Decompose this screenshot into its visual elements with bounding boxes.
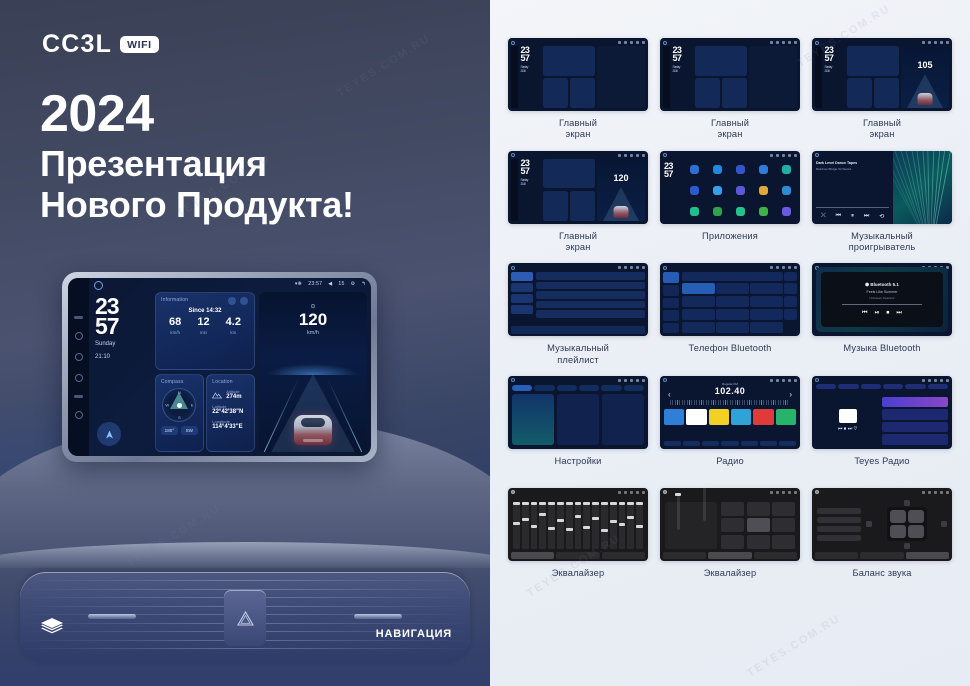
mini-playlist-tab[interactable] [511, 294, 533, 303]
mini-radio-tab[interactable] [760, 441, 777, 446]
mini-eq-preset[interactable] [772, 502, 795, 516]
balance-down-button[interactable] [904, 543, 910, 549]
mini-balance-preset[interactable] [817, 508, 861, 514]
mini-location-card[interactable] [874, 78, 899, 108]
mini-bluetooth-phone-screen[interactable] [660, 263, 800, 336]
mini-app-icon[interactable] [713, 165, 722, 174]
mini-eq-tab-sound[interactable] [556, 552, 599, 559]
mini-app-grid[interactable] [684, 160, 797, 221]
mini-eq-fader[interactable] [703, 488, 706, 521]
mini-home-icon[interactable] [663, 490, 667, 494]
mini-gear-icon[interactable] [788, 154, 791, 157]
mini-eq-tab-fade[interactable] [906, 552, 949, 559]
mini-dial-key[interactable] [682, 296, 715, 308]
mini-dial-key[interactable] [682, 283, 715, 295]
screen-thumbnail[interactable]: ⏮ ⏹ ⏭ ♡ [812, 376, 952, 449]
mini-eq-preset[interactable] [721, 518, 744, 532]
hazard-triangle-icon [237, 611, 254, 626]
mini-balance-preset[interactable] [817, 535, 861, 541]
mini-gear-icon[interactable] [940, 379, 943, 382]
mini-eq-band[interactable] [636, 502, 643, 549]
screen-thumbnail[interactable]: 2357 Sunday21:10 105 [812, 38, 952, 111]
mini-radio-preset[interactable] [686, 409, 706, 425]
mini-app-icon[interactable] [690, 186, 699, 195]
mini-back-icon[interactable] [794, 491, 797, 494]
mini-radio-preset[interactable] [709, 409, 729, 425]
stop-icon[interactable]: ⏹ [886, 310, 889, 317]
mini-radio-tab[interactable] [741, 441, 758, 446]
mini-eq-band[interactable] [601, 502, 608, 549]
mini-playlist-rows[interactable] [536, 272, 646, 326]
mini-side-rail[interactable] [815, 46, 822, 108]
mini-dialpad[interactable] [682, 272, 797, 333]
mini-compass-card[interactable] [695, 78, 720, 108]
play-icon[interactable]: ⏯ [875, 310, 880, 317]
mini-dial-key[interactable] [716, 309, 749, 321]
mini-home-icon[interactable] [511, 266, 515, 270]
mini-track-title: Dark Level Dance Tapes [816, 161, 889, 165]
mini-clock-widget: 2357 Sunday21:10 [521, 46, 541, 108]
mini-home-icon[interactable] [511, 490, 515, 494]
mini-settings-tab[interactable] [624, 385, 644, 391]
mini-apps-widget[interactable] [749, 46, 797, 108]
mini-eq-preset-grid[interactable] [721, 502, 795, 549]
mini-radio-preset[interactable] [753, 409, 773, 425]
mini-equalizer-presets-screen[interactable] [660, 488, 800, 561]
mini-app-icon[interactable] [782, 207, 791, 216]
repeat-icon[interactable]: ⟲ [879, 213, 884, 220]
mini-back-icon[interactable] [794, 154, 797, 157]
mini-dial-key[interactable] [682, 309, 715, 321]
mini-app-icon[interactable] [782, 165, 791, 174]
mini-radio-tab[interactable] [702, 441, 719, 446]
next-icon[interactable]: ⏭ [896, 310, 901, 317]
lower-widgets: Compass N S W E 180° [155, 374, 255, 452]
mini-playlist-sidebar[interactable] [511, 272, 533, 326]
shuffle-icon[interactable]: ⤬ [821, 213, 826, 220]
mini-volume-icon [782, 266, 785, 269]
information-actions[interactable] [228, 297, 248, 305]
mini-settings-panels[interactable] [512, 394, 644, 445]
mini-playlist-row[interactable] [536, 301, 646, 309]
mini-nav-speed: 120 [613, 173, 628, 183]
mini-settings-tab[interactable] [534, 385, 554, 391]
mini-phone-tab[interactable] [663, 298, 679, 309]
back-icon[interactable]: ↰ [361, 281, 366, 287]
mini-progress-bar[interactable] [816, 207, 889, 208]
mini-side-rail[interactable] [663, 46, 670, 108]
mini-teyes-tab[interactable] [838, 384, 858, 389]
mini-side-rail[interactable] [511, 159, 518, 221]
mini-eq-band[interactable] [575, 502, 582, 549]
mini-app-icon[interactable] [759, 186, 768, 195]
mini-radio-tab[interactable] [779, 441, 796, 446]
mini-key-call[interactable] [784, 309, 797, 321]
screen-thumbnail[interactable] [660, 488, 800, 561]
altitude-value: 274m [226, 394, 241, 400]
screen-thumbnail[interactable]: Regular FM ‹ 102.40 › [660, 376, 800, 449]
mini-app-icon[interactable] [736, 207, 745, 216]
side-button-volume-down[interactable] [75, 374, 83, 382]
mini-track-artist: Rainbow Bridge Orchestra [816, 167, 889, 171]
mini-teyes-tab[interactable] [861, 384, 881, 389]
gallery-cell: Настройки [508, 376, 648, 478]
screen-thumbnail[interactable] [660, 263, 800, 336]
mini-back-icon[interactable] [946, 379, 949, 382]
gallery-cell: Эквалайзер [508, 488, 648, 590]
balance-left-button[interactable] [866, 521, 872, 527]
screen-thumbnail[interactable]: 2357 Sunday21:10 [660, 38, 800, 111]
mini-bt-controls[interactable]: ⏮⏯ ⏹⏭ [862, 310, 902, 317]
mini-gear-icon[interactable] [636, 379, 639, 382]
mini-eq-preset[interactable] [747, 518, 770, 532]
mini-dial-key[interactable] [716, 296, 749, 308]
mini-phone-tab[interactable] [663, 285, 679, 296]
mini-dial-key[interactable] [750, 283, 783, 295]
mini-teyes-row[interactable] [882, 409, 948, 420]
screen-thumbnail[interactable] [508, 263, 648, 336]
mini-radio-tab[interactable] [664, 441, 681, 446]
mini-teyes-controls[interactable]: ⏮ ⏹ ⏭ ♡ [838, 426, 857, 432]
mini-app-icon[interactable] [782, 186, 791, 195]
mini-eq-band[interactable] [610, 502, 617, 549]
screen-thumbnail[interactable] [508, 376, 648, 449]
mini-apps-screen[interactable]: 2357 [660, 151, 800, 224]
mini-compass-card[interactable] [543, 191, 568, 221]
screen-caption: Баланс звука [852, 568, 911, 590]
mini-gear-icon[interactable] [788, 266, 791, 269]
mini-phone-tab[interactable] [663, 323, 679, 334]
mini-playlist-tab[interactable] [511, 305, 533, 314]
mini-back-icon[interactable] [642, 491, 645, 494]
head-unit-content: ▾❋ 23:57 ◀ 15 ⚙ ↰ 23 57 Sunday 21:1 [89, 278, 371, 456]
mini-teyes-tab[interactable] [928, 384, 948, 389]
mini-information-card[interactable] [695, 46, 747, 76]
mini-eq-tab-fade[interactable] [754, 552, 797, 559]
mini-phone-tab[interactable] [663, 272, 679, 283]
mini-compass-card[interactable] [847, 78, 872, 108]
mini-dial-key[interactable] [750, 322, 783, 334]
mini-bt-progress[interactable] [842, 304, 923, 305]
screen-thumbnail[interactable] [812, 488, 952, 561]
mini-mini-player[interactable] [511, 326, 645, 334]
side-button-mic[interactable] [75, 411, 83, 419]
mini-balance-preset[interactable] [817, 517, 861, 523]
mini-dial-key[interactable] [716, 283, 749, 295]
mini-eq-preset[interactable] [772, 518, 795, 532]
mini-app-icon[interactable] [713, 207, 722, 216]
previous-icon[interactable]: ⏮ [836, 213, 841, 220]
mini-teyes-row[interactable] [882, 422, 948, 433]
compass-card[interactable]: Compass N S W E 180° [155, 374, 204, 452]
mini-playlist-row[interactable] [536, 310, 646, 318]
mini-phone-sidebar[interactable] [663, 272, 679, 333]
navigation-shortcut-button[interactable] [97, 422, 121, 446]
mini-dial-key[interactable] [682, 322, 715, 334]
navigation-widget[interactable]: ⊙ 120 km/h [259, 292, 367, 452]
mini-radio-screen[interactable]: Regular FM ‹ 102.40 › [660, 376, 800, 449]
gallery-cell: Баланс звука [812, 488, 952, 590]
mini-eq-band[interactable] [531, 502, 538, 549]
mini-key-settings[interactable] [784, 272, 797, 281]
navigation-footer-label: НАВИГАЦИЯ [376, 628, 452, 640]
screen-thumbnail[interactable]: 2357 Sunday21:10 [508, 38, 648, 111]
balance-right-button[interactable] [941, 521, 947, 527]
mini-eq-band[interactable] [513, 502, 520, 549]
mini-playlist-tab[interactable] [511, 283, 533, 292]
mini-balance-preset[interactable] [817, 526, 861, 532]
mini-radio-frequency: 102.40 [660, 386, 800, 396]
mini-settings-tab[interactable] [557, 385, 577, 391]
mini-radio-presets[interactable] [664, 409, 796, 425]
home-icon[interactable] [94, 281, 103, 290]
mini-settings-tab[interactable] [512, 385, 532, 391]
screen-thumbnail[interactable] [508, 488, 648, 561]
brand-name: CC3L [42, 30, 112, 59]
expand-icon[interactable] [240, 297, 248, 305]
mini-playlist-screen[interactable] [508, 263, 648, 336]
mini-eq-faders[interactable] [665, 502, 717, 549]
mini-dial-key[interactable] [716, 322, 749, 334]
mini-eq-preset[interactable] [721, 535, 744, 549]
mini-eq-band[interactable] [557, 502, 564, 549]
mini-gear-icon[interactable] [788, 491, 791, 494]
mini-hotspot-panel[interactable] [557, 394, 599, 445]
mini-back-icon[interactable] [794, 266, 797, 269]
mini-playlist-row[interactable] [536, 272, 646, 280]
mini-eq-preset[interactable] [772, 535, 795, 549]
mini-playlist-row[interactable] [536, 282, 646, 290]
screen-thumbnail[interactable]: ⬢ Bluetooth 5.1 Feels Like Summer Unknow… [812, 263, 952, 336]
head-unit-screen[interactable]: ▾❋ 23:57 ◀ 15 ⚙ ↰ 23 57 Sunday 21:1 [68, 278, 371, 456]
seat-front-left[interactable] [890, 510, 906, 523]
mini-eq-tab-eq[interactable] [815, 552, 858, 559]
compass-heading: 180° [161, 426, 178, 435]
mini-eq-tab-sound[interactable] [708, 552, 751, 559]
screen-thumbnail[interactable]: Dark Level Dance Tapes Rainbow Bridge Or… [812, 151, 952, 224]
hazard-light-button[interactable] [224, 590, 266, 646]
mini-app-icon[interactable] [736, 186, 745, 195]
mini-key-backspace[interactable] [784, 296, 797, 308]
mini-teyes-player[interactable]: ⏮ ⏹ ⏭ ♡ [816, 397, 879, 445]
mini-eq-band[interactable] [566, 502, 573, 549]
mini-app-icon[interactable] [690, 165, 699, 174]
information-card[interactable]: Information Since 14:32 68 km/h [155, 292, 255, 370]
mini-navigation-widget[interactable]: 120 [597, 159, 645, 221]
mini-eq-preset[interactable] [721, 502, 744, 516]
nav-speed-value: 120 [299, 311, 327, 328]
mini-gear-icon[interactable] [636, 266, 639, 269]
mini-eq-fader[interactable] [677, 493, 680, 530]
chevron-right-icon[interactable]: › [789, 390, 792, 399]
mini-radio-bottom-tabs[interactable] [664, 441, 796, 446]
mini-radio-preset[interactable] [664, 409, 684, 425]
screen-thumbnail[interactable]: 2357 Sunday21:10 120 [508, 151, 648, 224]
mini-balance-presets[interactable] [817, 500, 861, 549]
seat-front-right[interactable] [908, 510, 924, 523]
mini-media-widget[interactable] [597, 46, 645, 108]
mini-eq-preset[interactable] [747, 535, 770, 549]
headline-line-2: Нового Продукта! [40, 184, 354, 225]
mini-information-card[interactable] [543, 46, 595, 76]
mini-balance-pad[interactable] [866, 500, 947, 549]
mini-radio-tab[interactable] [683, 441, 700, 446]
mini-teyes-tabs[interactable] [816, 384, 948, 389]
mini-app-icon[interactable] [759, 207, 768, 216]
mini-playlist-row[interactable] [536, 291, 646, 299]
mini-clock [624, 266, 627, 269]
mini-teyes-list[interactable] [882, 397, 948, 445]
side-button-mode[interactable] [74, 395, 83, 398]
mini-widget-stack [543, 46, 595, 108]
mini-wifi-panel[interactable] [512, 394, 554, 445]
head-unit-side-buttons[interactable] [68, 278, 89, 456]
mini-home-icon[interactable] [663, 153, 667, 157]
clock-widget: 23 57 Sunday 21:10 [93, 292, 151, 452]
mini-widget-stack [847, 46, 899, 108]
mini-teyes-row[interactable] [882, 397, 948, 408]
mini-equalizer-bands-screen[interactable] [508, 488, 648, 561]
mini-eq-band[interactable] [592, 502, 599, 549]
compass-east: E [191, 403, 194, 408]
mini-lower-cards [847, 78, 899, 108]
mini-back-icon[interactable] [642, 266, 645, 269]
mini-phone-tab[interactable] [663, 310, 679, 321]
mini-eq-tabs[interactable] [815, 552, 949, 559]
side-button-home[interactable] [75, 332, 83, 340]
mini-home-icon[interactable] [511, 378, 515, 382]
mini-visualizer [893, 151, 952, 224]
location-card[interactable]: Location Altitude 274m [206, 374, 255, 452]
mini-eq-band[interactable] [539, 502, 546, 549]
mini-home-screen[interactable]: 2357 Sunday21:10 105 [812, 38, 952, 111]
mini-eq-sliders[interactable] [513, 502, 643, 549]
mini-clock-widget: 2357 Sunday21:10 [825, 46, 845, 108]
gallery-cell: 2357 Приложения [660, 151, 800, 254]
mini-volume-icon [630, 491, 633, 494]
mini-eq-band[interactable] [522, 502, 529, 549]
refresh-icon[interactable] [228, 297, 236, 305]
mini-radio-preset[interactable] [776, 409, 796, 425]
mini-app-icon[interactable] [713, 186, 722, 195]
previous-icon[interactable]: ⏮ [862, 310, 867, 317]
mini-settings-tab[interactable] [601, 385, 621, 391]
mini-bluetooth-music-screen[interactable]: ⬢ Bluetooth 5.1 Feels Like Summer Unknow… [812, 263, 952, 336]
mini-navigation-widget[interactable]: 105 [901, 46, 949, 108]
mini-home-screen[interactable]: 2357 Sunday21:10 [508, 38, 648, 111]
mini-radio-preset[interactable] [731, 409, 751, 425]
mini-radio-tab[interactable] [721, 441, 738, 446]
gear-icon[interactable]: ⚙ [351, 281, 356, 287]
mini-status-bar [663, 265, 797, 270]
longitude-row: Longitude 114°4'33"E [212, 419, 249, 430]
mini-back-icon[interactable] [946, 491, 949, 494]
side-button-power[interactable] [74, 316, 83, 319]
mini-number-field[interactable] [682, 272, 783, 281]
mini-home-screen[interactable]: 2357 Sunday21:10 [660, 38, 800, 111]
mini-volume-icon [630, 266, 633, 269]
mini-eq-band[interactable] [548, 502, 555, 549]
mini-side-rail[interactable] [511, 46, 518, 108]
mini-home-icon[interactable] [663, 266, 667, 270]
mini-dial-key[interactable] [750, 309, 783, 321]
mini-eq-band[interactable] [627, 502, 634, 549]
mini-radio-dial[interactable] [670, 400, 790, 405]
mini-eq-tabs[interactable] [663, 552, 797, 559]
next-icon[interactable]: ⏭ [864, 213, 869, 220]
clock-day: Sunday [95, 341, 149, 349]
mini-clock-day: Sunday21:10 [825, 65, 845, 73]
mini-eq-tab-eq[interactable] [511, 552, 554, 559]
seat-rear-right[interactable] [908, 525, 924, 538]
mini-location-card[interactable] [722, 78, 747, 108]
mini-teyes-tab[interactable] [883, 384, 903, 389]
metric-time-unit: min [197, 330, 209, 335]
volume-icon: ◀ [328, 281, 332, 287]
mini-balance-screen[interactable] [812, 488, 952, 561]
mini-home-screen[interactable]: 2357 Sunday21:10 120 [508, 151, 648, 224]
mini-information-card[interactable] [543, 159, 595, 189]
mini-back-icon[interactable] [642, 379, 645, 382]
mini-more-panel[interactable] [602, 394, 644, 445]
pause-icon[interactable]: ⏸ [851, 213, 854, 220]
mini-lower-cards [543, 191, 595, 221]
mini-location-card[interactable] [570, 191, 595, 221]
slide-root: CC3L WIFI 2024 Презентация Нового Продук… [0, 0, 970, 686]
mini-dial-key[interactable] [750, 296, 783, 308]
layers-icon [40, 617, 64, 642]
mini-app-icon[interactable] [736, 165, 745, 174]
mini-settings-tab[interactable] [579, 385, 599, 391]
mini-eq-tab-eq[interactable] [663, 552, 706, 559]
mini-transport-controls[interactable]: ⤬⏮ ⏸⏭ ⟲ [816, 213, 889, 220]
gallery-cell: Музыкальныйплейлист [508, 263, 648, 366]
mini-settings-screen[interactable] [508, 376, 648, 449]
mini-eq-tab-sound[interactable] [860, 552, 903, 559]
mini-teyes-row[interactable] [882, 434, 948, 445]
mini-teyes-tab[interactable] [816, 384, 836, 389]
side-button-volume-up[interactable] [75, 353, 83, 361]
mini-compass-card[interactable] [543, 78, 568, 108]
mini-app-icon[interactable] [690, 207, 699, 216]
seat-rear-left[interactable] [890, 525, 906, 538]
mini-music-player-screen[interactable]: Dark Level Dance Tapes Rainbow Bridge Or… [812, 151, 952, 224]
mini-eq-tab-fade[interactable] [602, 552, 645, 559]
mini-eq-preset[interactable] [747, 502, 770, 516]
mini-status-bar [511, 378, 645, 383]
mini-status-bar [663, 490, 797, 495]
mini-home-icon[interactable] [815, 378, 819, 382]
mini-eq-tabs[interactable] [511, 552, 645, 559]
mini-clock [624, 379, 627, 382]
mini-location-card[interactable] [570, 78, 595, 108]
mini-settings-tabs[interactable] [512, 385, 644, 391]
balance-up-button[interactable] [904, 500, 910, 506]
mini-teyes-radio-screen[interactable]: ⏮ ⏹ ⏭ ♡ [812, 376, 952, 449]
mini-gear-icon[interactable] [940, 491, 943, 494]
mini-playlist-tab[interactable] [511, 272, 533, 281]
mini-app-icon[interactable] [759, 165, 768, 174]
longitude-value: 114°4'33"E [212, 424, 249, 430]
mini-teyes-tab[interactable] [905, 384, 925, 389]
mini-eq-band[interactable] [583, 502, 590, 549]
mini-information-card[interactable] [847, 46, 899, 76]
mini-key-star[interactable] [784, 283, 797, 295]
mini-home-icon[interactable] [815, 490, 819, 494]
mini-eq-band[interactable] [619, 502, 626, 549]
screen-thumbnail[interactable]: 2357 [660, 151, 800, 224]
mini-gear-icon[interactable] [636, 491, 639, 494]
